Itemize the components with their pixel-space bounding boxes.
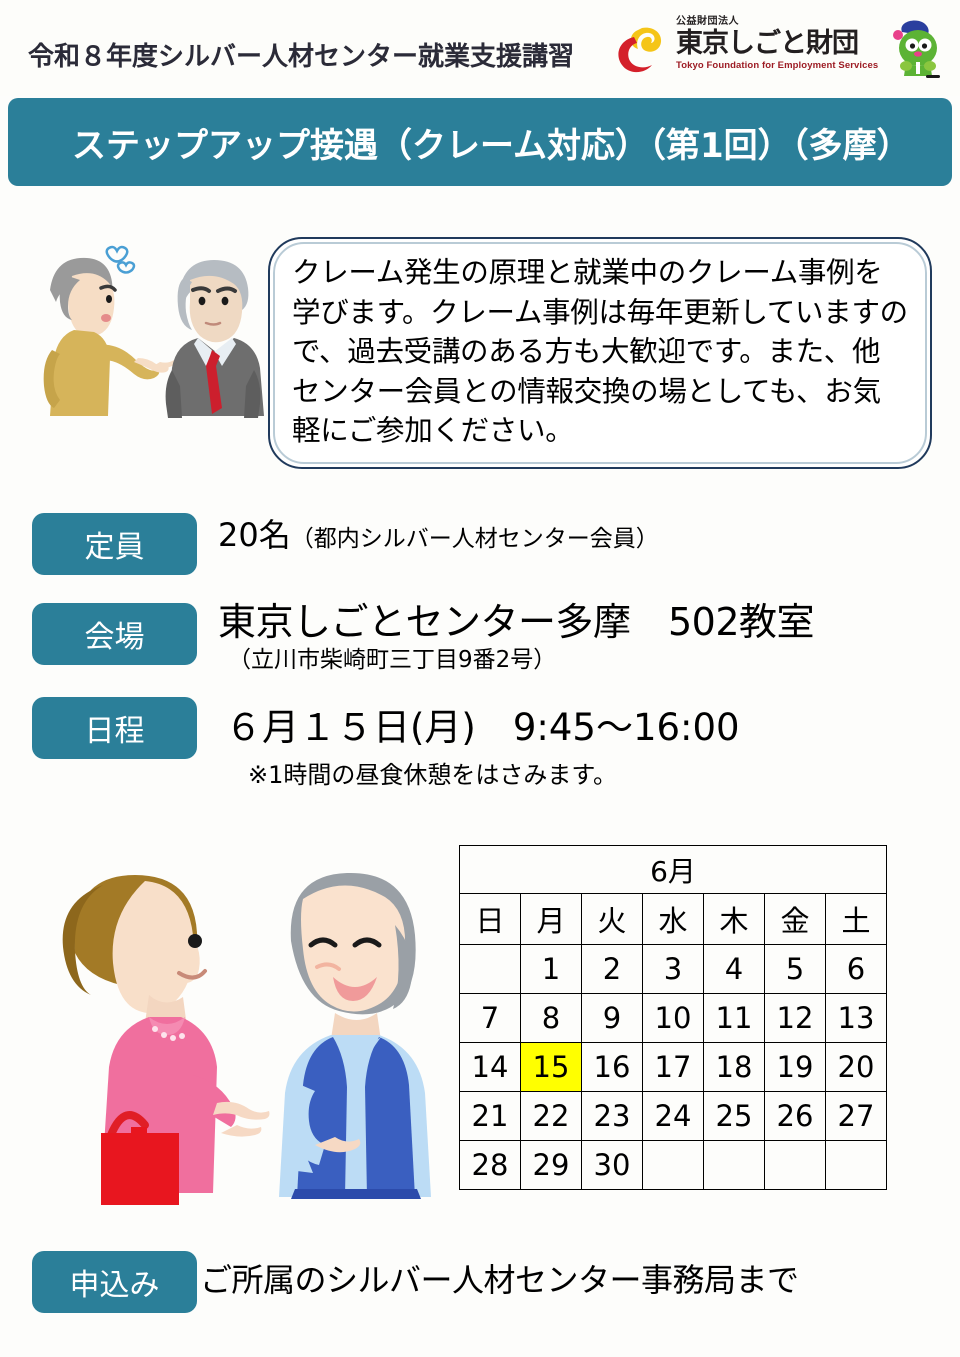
calendar-day: 4 [704, 945, 765, 994]
calendar-dow-sat: 土 [826, 894, 887, 945]
calendar-day: 29 [521, 1141, 582, 1190]
calendar-dow-wed: 水 [643, 894, 704, 945]
calendar-day: 23 [582, 1092, 643, 1141]
flyer-page: 令和８年度シルバー人材センター就業支援講習 公益財団法人 東京しごと財団 Tok… [0, 0, 960, 1357]
calendar-dow-fri: 金 [765, 894, 826, 945]
schedule-value-main: ６月１５日(月) 9:45〜16:00 [225, 697, 740, 751]
capacity-value-sub: （都内シルバー人材センター会員） [291, 526, 659, 552]
calendar-day: 14 [460, 1043, 521, 1092]
calendar-month-label: 6月 [460, 846, 887, 894]
calendar-day: 9 [582, 994, 643, 1043]
calendar-month-row: 6月 [460, 846, 887, 894]
venue-label: 会場 [32, 603, 197, 665]
organization-logo: 公益財団法人 東京しごと財団 Tokyo Foundation for Empl… [612, 16, 952, 82]
calendar-day: 16 [582, 1043, 643, 1092]
calendar-week-row: 28 29 30 [460, 1141, 887, 1190]
calendar: 6月 日 月 火 水 木 金 土 1 2 3 4 5 6 7 [459, 845, 887, 1190]
calendar-day: 13 [826, 994, 887, 1043]
flame-logo-icon [612, 24, 670, 76]
calendar-day: 20 [826, 1043, 887, 1092]
calendar-dow-row: 日 月 火 水 木 金 土 [460, 894, 887, 945]
calendar-day [826, 1141, 887, 1190]
logo-small-text: 公益財団法人 [676, 16, 888, 28]
application-value: ご所属のシルバー人材センター事務局まで [200, 1255, 799, 1301]
capacity-label: 定員 [32, 513, 197, 575]
calendar-day: 24 [643, 1092, 704, 1141]
calendar-day: 21 [460, 1092, 521, 1141]
calendar-week-row: 7 8 9 10 11 12 13 [460, 994, 887, 1043]
application-label: 申込み [32, 1251, 197, 1313]
banner-title: ステップアップ接遇（クレーム対応）（第1回）（多摩） [72, 118, 911, 167]
calendar-day: 3 [643, 945, 704, 994]
calendar-day: 11 [704, 994, 765, 1043]
calendar-dow-sun: 日 [460, 894, 521, 945]
mascot-character-icon [884, 18, 950, 82]
calendar-day [643, 1141, 704, 1190]
venue-value-main: 東京しごとセンター多摩 502教室 [218, 591, 814, 646]
two-women-talking-illustration [45, 845, 440, 1215]
calendar-day: 1 [521, 945, 582, 994]
venue-value-sub: （立川市柴崎町三丁目9番2号） [228, 640, 556, 674]
calendar-day [460, 945, 521, 994]
calendar-day: 18 [704, 1043, 765, 1092]
calendar-day: 8 [521, 994, 582, 1043]
calendar-day: 17 [643, 1043, 704, 1092]
calendar-dow-tue: 火 [582, 894, 643, 945]
calendar-week-row: 14 15 16 17 18 19 20 [460, 1043, 887, 1092]
calendar-dow-thu: 木 [704, 894, 765, 945]
calendar-day: 12 [765, 994, 826, 1043]
calendar-week-row: 1 2 3 4 5 6 [460, 945, 887, 994]
calendar-day [704, 1141, 765, 1190]
schedule-note: ※1時間の昼食休憩をはさみます。 [248, 755, 617, 790]
logo-main-text: 東京しごと財団 [676, 28, 888, 59]
title-banner: ステップアップ接遇（クレーム対応）（第1回）（多摩） [8, 98, 952, 186]
calendar-dow-mon: 月 [521, 894, 582, 945]
calendar-day: 5 [765, 945, 826, 994]
calendar-day: 27 [826, 1092, 887, 1141]
logo-roman-text: Tokyo Foundation for Employment Services [676, 60, 888, 72]
logo-text-block: 公益財団法人 東京しごと財団 Tokyo Foundation for Empl… [676, 16, 888, 72]
calendar-day-highlighted: 15 [521, 1043, 582, 1092]
calendar-day: 25 [704, 1092, 765, 1141]
page-header: 令和８年度シルバー人材センター就業支援講習 公益財団法人 東京しごと財団 Tok… [0, 0, 960, 96]
calendar-day: 2 [582, 945, 643, 994]
capacity-value-main: 20名 [218, 516, 291, 554]
calendar-day: 22 [521, 1092, 582, 1141]
calendar-day: 6 [826, 945, 887, 994]
calendar-day [765, 1141, 826, 1190]
calendar-day: 19 [765, 1043, 826, 1092]
capacity-value: 20名（都内シルバー人材センター会員） [218, 510, 659, 556]
calendar-day: 7 [460, 994, 521, 1043]
schedule-label: 日程 [32, 697, 197, 759]
calendar-week-row: 21 22 23 24 25 26 27 [460, 1092, 887, 1141]
header-title: 令和８年度シルバー人材センター就業支援講習 [28, 36, 574, 73]
calendar-day: 30 [582, 1141, 643, 1190]
calendar-day: 28 [460, 1141, 521, 1190]
calendar-day: 10 [643, 994, 704, 1043]
complaint-scene-illustration [22, 238, 272, 470]
description-text: クレーム発生の原理と就業中のクレーム事例を学びます。クレーム事例は毎年更新してい… [292, 253, 908, 451]
calendar-day: 26 [765, 1092, 826, 1141]
description-bubble: クレーム発生の原理と就業中のクレーム事例を学びます。クレーム事例は毎年更新してい… [268, 237, 932, 469]
